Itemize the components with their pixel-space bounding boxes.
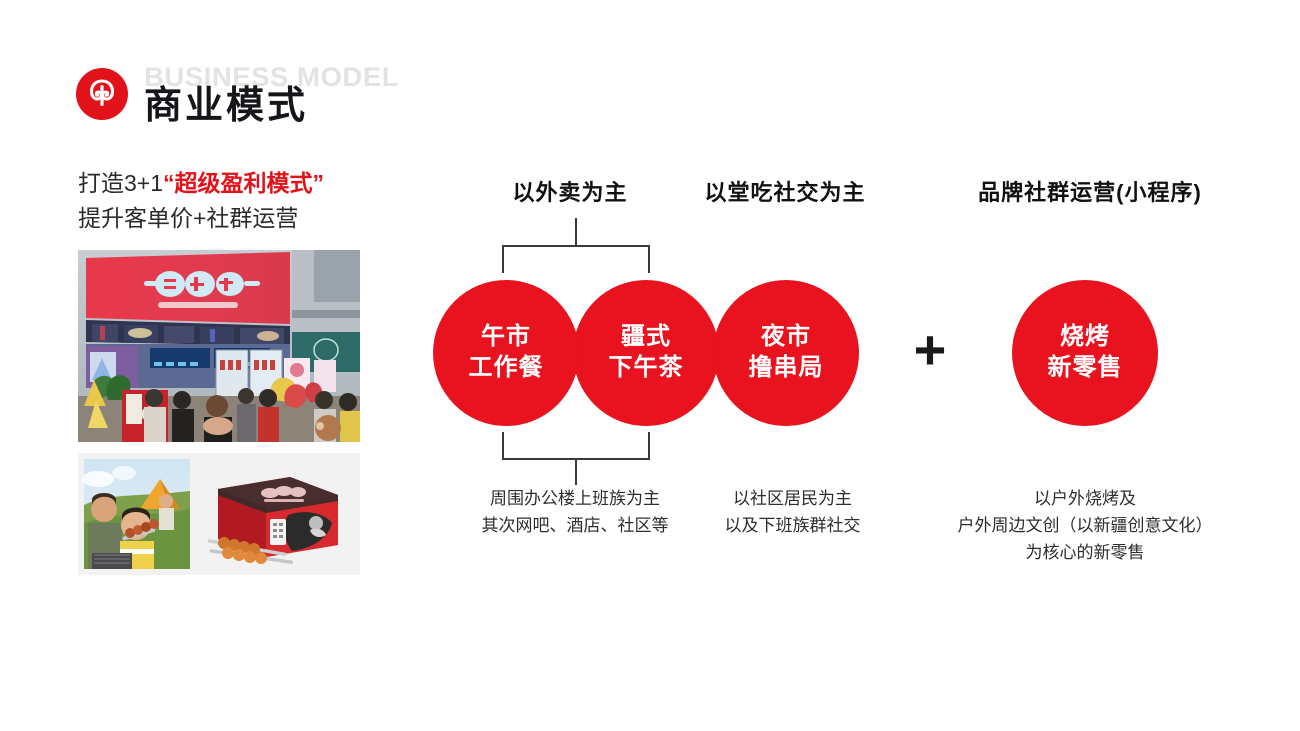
bracket-bottom-leg-right [648,432,650,460]
group-heading-brand: 品牌社群运营(小程序) [945,175,1235,207]
page-header: BUSINESS MODEL 商业模式 [76,60,496,132]
bbq-product-photo [78,453,360,575]
caption-dinein-line1: 以社区居民为主 [695,485,890,512]
lead-highlight: “超级盈利模式” [163,170,324,196]
lead-line-1: 打造3+1“超级盈利模式” [78,168,378,199]
circle-new-retail[interactable]: 烧烤 新零售 [1012,280,1158,426]
plus-icon: + [908,322,952,382]
group-heading-delivery: 以外卖为主 [470,175,670,207]
ram-head-logo-icon [76,68,128,120]
caption-dinein: 以社区居民为主 以及下班族群社交 [695,485,890,539]
circle-retail-line2: 新零售 [1048,353,1123,384]
circle-retail-line1: 烧烤 [1060,322,1110,353]
bracket-top-stem [575,218,577,246]
circle-lunch-line1: 午市 [481,322,531,353]
bracket-top-leg-right [648,245,650,273]
group-heading-dinein: 以堂吃社交为主 [680,175,890,207]
caption-delivery-line2: 其次网吧、酒店、社区等 [455,512,695,539]
left-lead-text: 打造3+1“超级盈利模式” 提升客单价+社群运营 [78,168,378,234]
caption-delivery-line1: 周围办公楼上班族为主 [455,485,695,512]
storefront-photo [78,250,360,442]
circle-night-line2: 撸串局 [749,353,824,384]
caption-dinein-line2: 以及下班族群社交 [695,512,890,539]
circle-tea-line2: 下午茶 [609,353,684,384]
caption-brand-line1: 以户外烧烤及 [920,485,1250,512]
lead-prefix: 打造3+1 [78,170,163,196]
bracket-top-bar [502,245,650,247]
caption-brand-line3: 为核心的新零售 [920,539,1250,566]
circle-night-line1: 夜市 [761,322,811,353]
caption-delivery: 周围办公楼上班族为主 其次网吧、酒店、社区等 [455,485,695,539]
lead-line-2: 提升客单价+社群运营 [78,203,378,234]
circle-lunch-line2: 工作餐 [469,353,544,384]
circle-night-market[interactable]: 夜市 撸串局 [713,280,859,426]
circle-lunch[interactable]: 午市 工作餐 [433,280,579,426]
circle-afternoon-tea[interactable]: 疆式 下午茶 [573,280,719,426]
bracket-bottom-stem [575,458,577,485]
bracket-bottom-leg-left [502,432,504,460]
page-title: 商业模式 [144,74,308,129]
circle-tea-line1: 疆式 [621,322,671,353]
bracket-top-leg-left [502,245,504,273]
caption-brand-line2: 户外周边文创（以新疆创意文化） [920,512,1250,539]
caption-brand: 以户外烧烤及 户外周边文创（以新疆创意文化） 为核心的新零售 [920,485,1250,567]
